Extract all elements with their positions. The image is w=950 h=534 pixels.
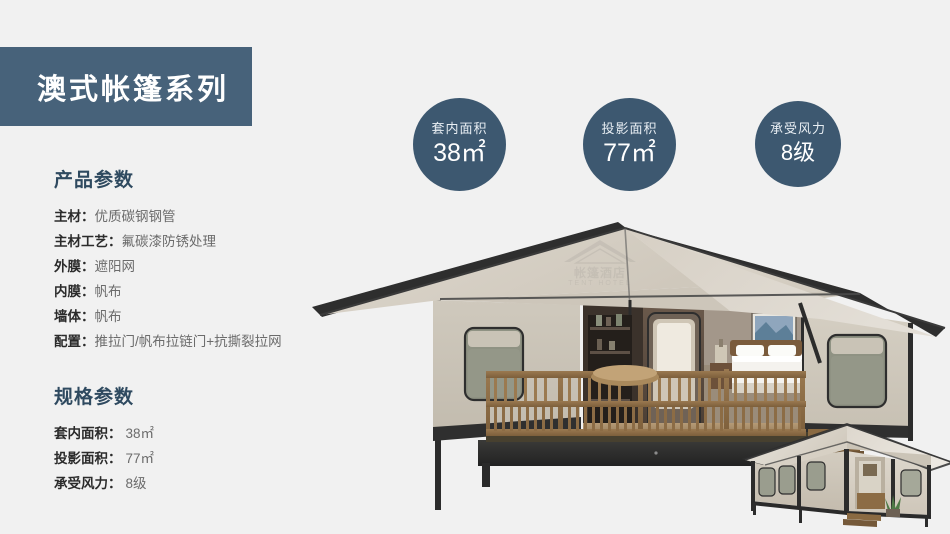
spec-value: 帆布 bbox=[95, 309, 122, 324]
stat-value: 38㎡ bbox=[433, 138, 486, 168]
spec-label: 主材工艺： bbox=[54, 234, 122, 249]
stat-label: 承受风力 bbox=[770, 121, 826, 137]
spec-value: 77㎡ bbox=[122, 451, 155, 466]
spec-label: 承受风力： bbox=[54, 476, 122, 491]
tent-thumbnail-illustration bbox=[735, 415, 950, 534]
series-title-banner: 澳式帐篷系列 bbox=[0, 47, 252, 126]
stat-label: 套内面积 bbox=[431, 121, 487, 137]
spec-label: 墙体： bbox=[54, 309, 95, 324]
spec-label: 配置： bbox=[54, 334, 95, 349]
stat-label: 投影面积 bbox=[601, 121, 657, 137]
stat-circle-projected-area[interactable]: 投影面积 77㎡ bbox=[583, 98, 676, 191]
tent-thumbnail-svg bbox=[735, 415, 950, 534]
stat-circle-wind-resistance[interactable]: 承受风力 8级 bbox=[755, 101, 841, 187]
spec-value: 推拉门/帆布拉链门+抗撕裂拉网 bbox=[95, 334, 282, 349]
spec-value: 8级 bbox=[122, 476, 147, 491]
spec-label: 套内面积： bbox=[54, 426, 122, 441]
series-title-text: 澳式帐篷系列 bbox=[37, 66, 229, 108]
spec-value: 38㎡ bbox=[122, 426, 155, 441]
stat-value: 77㎡ bbox=[603, 138, 656, 168]
stat-value: 8级 bbox=[781, 138, 815, 168]
spec-label: 外膜： bbox=[54, 259, 95, 274]
spec-value: 遮阳网 bbox=[95, 259, 136, 274]
product-section-heading: 产品参数 bbox=[54, 165, 354, 192]
slide-canvas: 澳式帐篷系列 产品参数 主材：优质碳钢钢管 主材工艺：氟碳漆防锈处理 外膜：遮阳… bbox=[0, 0, 950, 534]
spec-label: 内膜： bbox=[54, 284, 95, 299]
spec-value: 帆布 bbox=[95, 284, 122, 299]
spec-label: 主材： bbox=[54, 209, 95, 224]
spec-value: 优质碳钢钢管 bbox=[95, 209, 176, 224]
spec-label: 投影面积： bbox=[54, 451, 122, 466]
stat-circle-interior-area[interactable]: 套内面积 38㎡ bbox=[413, 98, 506, 191]
spec-value: 氟碳漆防锈处理 bbox=[122, 234, 217, 249]
